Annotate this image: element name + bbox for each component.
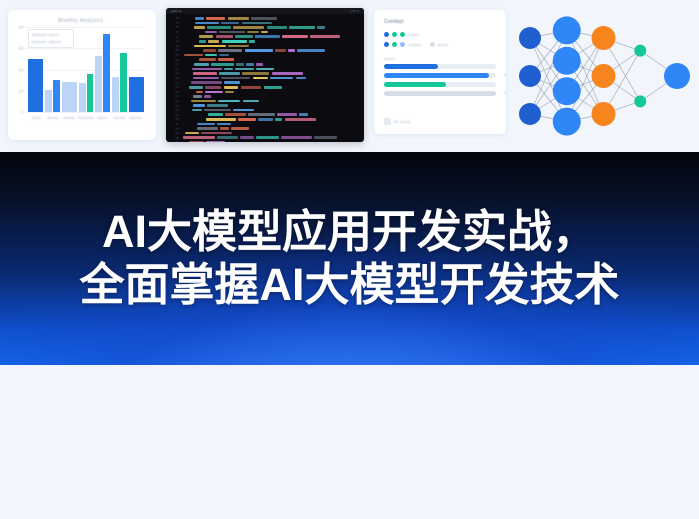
- code-token: [217, 123, 231, 126]
- network-node: [553, 47, 581, 75]
- code-tokens: [194, 26, 325, 29]
- network-node: [592, 102, 616, 126]
- code-token: [285, 118, 316, 121]
- line-number: 68: [166, 131, 183, 135]
- status-dot: [392, 32, 397, 37]
- code-token: [191, 100, 216, 103]
- column-chart-plot: 020406080: [26, 27, 144, 112]
- bar: [87, 74, 94, 112]
- dot-row: commsamou: [384, 42, 448, 47]
- y-tick-label: 60: [19, 46, 24, 51]
- network-node: [519, 65, 541, 87]
- progress-bar-list: 6605: [384, 64, 496, 100]
- line-number: 69: [166, 136, 183, 140]
- bar: [129, 77, 144, 112]
- network-node: [553, 77, 581, 105]
- line-number: 46: [166, 30, 183, 34]
- code-tokens: [206, 118, 316, 121]
- code-token: [277, 113, 297, 116]
- code-tokens: [193, 72, 303, 75]
- bar: [62, 82, 77, 112]
- code-tokens: [199, 58, 234, 61]
- progress-value: 05: [504, 91, 506, 95]
- code-token: [206, 141, 225, 142]
- code-token: [233, 109, 254, 112]
- code-token: [246, 63, 254, 66]
- top-panel-band: Monthly Analytics Dataset users Dataset …: [0, 0, 699, 152]
- line-number: 58: [166, 85, 183, 89]
- code-tokens: [195, 22, 272, 25]
- line-number: 48: [166, 39, 183, 43]
- code-token: [243, 100, 259, 103]
- code-token: [220, 127, 228, 130]
- bar-group: [95, 27, 110, 112]
- code-tokens: [184, 54, 229, 57]
- bar: [79, 83, 86, 112]
- code-token: [199, 35, 213, 38]
- code-token: [204, 95, 211, 98]
- bar: [45, 90, 52, 112]
- x-tick-label: Sadaio: [127, 116, 144, 120]
- x-tick-label: Sauci: [94, 116, 111, 120]
- code-tokens: [189, 141, 225, 142]
- code-tokens: [208, 113, 308, 116]
- x-tick-label: Bloss: [45, 116, 62, 120]
- code-token: [193, 72, 217, 75]
- progress-card: Comfast comm commsamou count 6605 AI Too…: [374, 10, 506, 134]
- code-editor-card: index.ts UTF-8 4344454647484950515253545…: [166, 8, 364, 142]
- progress-fill: [384, 91, 496, 96]
- dot-row-label: comms: [408, 43, 422, 47]
- status-dot: [384, 32, 389, 37]
- network-node: [634, 95, 646, 107]
- code-tokens: [192, 68, 274, 71]
- code-token: [205, 91, 223, 94]
- progress-track: [384, 82, 496, 87]
- bar-group: [45, 27, 60, 112]
- y-tick-label: 20: [19, 88, 24, 93]
- code-tab-label[interactable]: index.ts: [171, 9, 181, 13]
- code-token: [189, 141, 204, 142]
- code-token: [251, 17, 277, 20]
- code-token: [189, 86, 203, 89]
- code-tokens: [199, 35, 340, 38]
- line-number: 55: [166, 71, 183, 75]
- code-token: [297, 49, 325, 52]
- code-token: [194, 45, 226, 48]
- code-token: [310, 35, 340, 38]
- progress-fill: [384, 82, 446, 87]
- code-token: [192, 68, 222, 71]
- hero-banner: AI大模型应用开发实战， 全面掌握AI大模型开发技术: [0, 152, 699, 365]
- code-tokens: [191, 100, 259, 103]
- progress-dot-row-1: commsamou: [384, 42, 448, 50]
- network-node: [553, 108, 581, 136]
- code-token: [317, 26, 325, 29]
- code-tokens: [197, 127, 249, 130]
- code-tokens: [205, 31, 268, 34]
- code-token: [193, 77, 219, 80]
- code-token: [206, 17, 225, 20]
- code-token: [224, 68, 233, 71]
- progress-fill: [384, 73, 489, 78]
- code-token: [194, 26, 205, 29]
- x-tick-label: Selwo: [61, 116, 78, 120]
- bar: [95, 56, 102, 112]
- code-token: [205, 54, 217, 57]
- code-tokens: [191, 81, 240, 84]
- code-token: [228, 45, 249, 48]
- line-number: 45: [166, 25, 183, 29]
- network-node: [592, 64, 616, 88]
- code-token: [296, 77, 306, 80]
- code-token: [256, 136, 278, 139]
- progress-footer-label: AI Tools: [394, 120, 411, 124]
- code-token: [197, 127, 218, 130]
- code-token: [264, 86, 283, 89]
- bar-group: [129, 27, 144, 112]
- code-token: [206, 118, 236, 121]
- progress-track: 66: [384, 73, 496, 78]
- line-number: 67: [166, 127, 183, 131]
- code-token: [235, 68, 254, 71]
- code-token: [249, 40, 255, 43]
- code-tokens: [203, 49, 325, 52]
- code-token: [207, 26, 231, 29]
- code-token: [219, 31, 245, 34]
- code-token: [245, 49, 274, 52]
- code-token: [193, 95, 202, 98]
- code-tokens: [193, 95, 211, 98]
- code-token: [272, 72, 303, 75]
- code-token: [218, 49, 242, 52]
- network-node: [553, 16, 581, 44]
- code-tokens: [194, 45, 249, 48]
- code-token: [208, 40, 220, 43]
- code-token: [288, 49, 295, 52]
- code-token: [197, 123, 215, 126]
- code-token: [222, 40, 247, 43]
- line-number: 64: [166, 113, 183, 117]
- code-token: [225, 113, 246, 116]
- code-tokens: [185, 132, 232, 135]
- line-number: 56: [166, 76, 183, 80]
- status-dot: [400, 42, 405, 47]
- code-token: [281, 136, 312, 139]
- bar-group: [28, 27, 43, 112]
- code-token: [236, 63, 244, 66]
- dot-row: comm: [384, 32, 419, 37]
- code-token: [216, 35, 233, 38]
- dot-row-label: amou: [438, 43, 449, 47]
- code-token: [258, 118, 273, 121]
- code-token: [221, 77, 250, 80]
- line-number: 53: [166, 62, 183, 66]
- code-token: [240, 136, 254, 139]
- code-token: [225, 91, 234, 94]
- code-token: [314, 136, 338, 139]
- code-token: [193, 104, 205, 107]
- code-token: [247, 31, 259, 34]
- code-token: [267, 26, 287, 29]
- code-status-label: UTF-8: [351, 9, 360, 13]
- line-number: 60: [166, 94, 183, 98]
- line-number: 54: [166, 67, 183, 71]
- code-token: [217, 136, 238, 139]
- line-number: 44: [166, 21, 183, 25]
- code-token: [221, 22, 240, 25]
- code-token: [218, 58, 235, 61]
- line-number: 52: [166, 58, 183, 62]
- code-token: [205, 86, 221, 89]
- hero-title-line-2: 全面掌握AI大模型开发技术: [79, 261, 619, 309]
- code-token: [183, 136, 215, 139]
- x-tick-label: Feirama: [78, 116, 95, 120]
- code-token: [192, 109, 202, 112]
- poster-root: Monthly Analytics Dataset users Dataset …: [0, 0, 699, 519]
- code-token: [199, 58, 216, 61]
- code-token: [224, 81, 240, 84]
- progress-footer[interactable]: AI Tools: [384, 118, 411, 125]
- code-token: [270, 77, 293, 80]
- bar: [103, 34, 110, 112]
- line-number: 66: [166, 122, 183, 126]
- line-number: 61: [166, 99, 183, 103]
- code-line: 70: [166, 140, 364, 142]
- code-tokens: [192, 109, 254, 112]
- y-tick-label: 40: [19, 67, 24, 72]
- code-token: [256, 63, 263, 66]
- code-token: [275, 49, 285, 52]
- column-chart-title: Monthly Analytics: [58, 18, 103, 24]
- progress-dot-row-0: comm: [384, 32, 419, 40]
- progress-subtitle: count: [384, 57, 395, 61]
- line-number: 63: [166, 108, 183, 112]
- bar: [28, 59, 43, 112]
- code-token: [224, 86, 239, 89]
- y-tick-label: 0: [21, 110, 24, 115]
- checkbox-icon[interactable]: [384, 118, 391, 125]
- line-number: 57: [166, 81, 183, 85]
- progress-track: [384, 64, 496, 69]
- line-number: 65: [166, 117, 183, 121]
- code-token: [208, 113, 223, 116]
- code-token: [261, 31, 268, 34]
- code-token: [275, 118, 282, 121]
- bar: [120, 53, 127, 113]
- code-token: [201, 132, 232, 135]
- code-token: [196, 91, 203, 94]
- code-token: [185, 132, 199, 135]
- code-token: [282, 35, 308, 38]
- progress-fill: [384, 64, 438, 69]
- code-token: [231, 127, 249, 130]
- code-token: [253, 77, 269, 80]
- code-token: [219, 72, 239, 75]
- code-token: [255, 35, 280, 38]
- code-token: [289, 26, 315, 29]
- bar-group: [112, 27, 127, 112]
- network-node: [664, 63, 690, 89]
- code-token: [211, 63, 234, 66]
- y-tick-label: 80: [19, 25, 24, 30]
- network-node: [634, 45, 646, 57]
- code-token: [194, 63, 209, 66]
- code-token: [203, 49, 216, 52]
- bar: [53, 80, 60, 112]
- code-token: [242, 72, 270, 75]
- line-number: 62: [166, 104, 183, 108]
- code-token: [218, 100, 240, 103]
- progress-value: 66: [504, 73, 506, 77]
- code-tokens: [196, 91, 234, 94]
- code-token: [195, 22, 219, 25]
- code-token: [205, 31, 217, 34]
- line-number: 47: [166, 35, 183, 39]
- code-token: [241, 86, 262, 89]
- code-token: [299, 113, 307, 116]
- code-token: [238, 118, 256, 121]
- bar: [112, 77, 119, 112]
- code-token: [207, 104, 228, 107]
- x-tick-label: Caro: [28, 116, 45, 120]
- code-editor-body[interactable]: 4344454647484950515253545556575859606162…: [166, 15, 364, 142]
- code-tokens: [189, 86, 282, 89]
- code-tokens: [199, 40, 255, 43]
- bar-group: [79, 27, 94, 112]
- code-tokens: [183, 136, 337, 139]
- line-number: 49: [166, 44, 183, 48]
- column-chart-card: Monthly Analytics Dataset users Dataset …: [8, 10, 156, 140]
- gridline: [26, 112, 144, 113]
- line-number: 50: [166, 48, 183, 52]
- code-token: [233, 26, 265, 29]
- dot-row-label: comm: [408, 33, 419, 37]
- status-dot: [392, 42, 397, 47]
- code-tokens: [197, 123, 231, 126]
- progress-card-title: Comfast: [384, 19, 403, 25]
- progress-track: 05: [384, 91, 496, 96]
- code-editor-tabbar: index.ts UTF-8: [166, 8, 364, 14]
- bar-group: [62, 27, 77, 112]
- code-token: [242, 22, 272, 25]
- code-token: [204, 109, 231, 112]
- status-dot: [400, 32, 405, 37]
- hero-title-line-1: AI大模型应用开发实战，: [102, 208, 597, 256]
- line-number: 59: [166, 90, 183, 94]
- line-number: 43: [166, 16, 183, 20]
- status-dot: [384, 42, 389, 47]
- bottom-panel-band: Predictions stats 0255075100150200250300…: [0, 365, 699, 519]
- network-node: [519, 27, 541, 49]
- code-token: [184, 54, 203, 57]
- code-token: [256, 68, 274, 71]
- code-token: [219, 54, 229, 57]
- column-chart-x-labels: CaroBlossSelwoFeiramaSauciJoliutiSadaio: [28, 116, 144, 120]
- network-node: [592, 26, 616, 50]
- neural-network-diagram-top: [508, 0, 699, 152]
- code-tokens: [195, 17, 277, 20]
- code-token: [235, 35, 252, 38]
- code-token: [248, 113, 276, 116]
- x-tick-label: Joliuti: [111, 116, 128, 120]
- network-node: [519, 103, 541, 125]
- line-number: 51: [166, 53, 183, 57]
- line-number: 70: [166, 140, 183, 142]
- code-token: [195, 17, 204, 20]
- code-token: [199, 40, 206, 43]
- bar-group-container: [28, 27, 144, 112]
- code-token: [191, 81, 222, 84]
- code-tokens: [193, 77, 306, 80]
- code-tokens: [193, 104, 228, 107]
- code-token: [228, 17, 249, 20]
- status-dot: [430, 42, 435, 47]
- code-tokens: [194, 63, 263, 66]
